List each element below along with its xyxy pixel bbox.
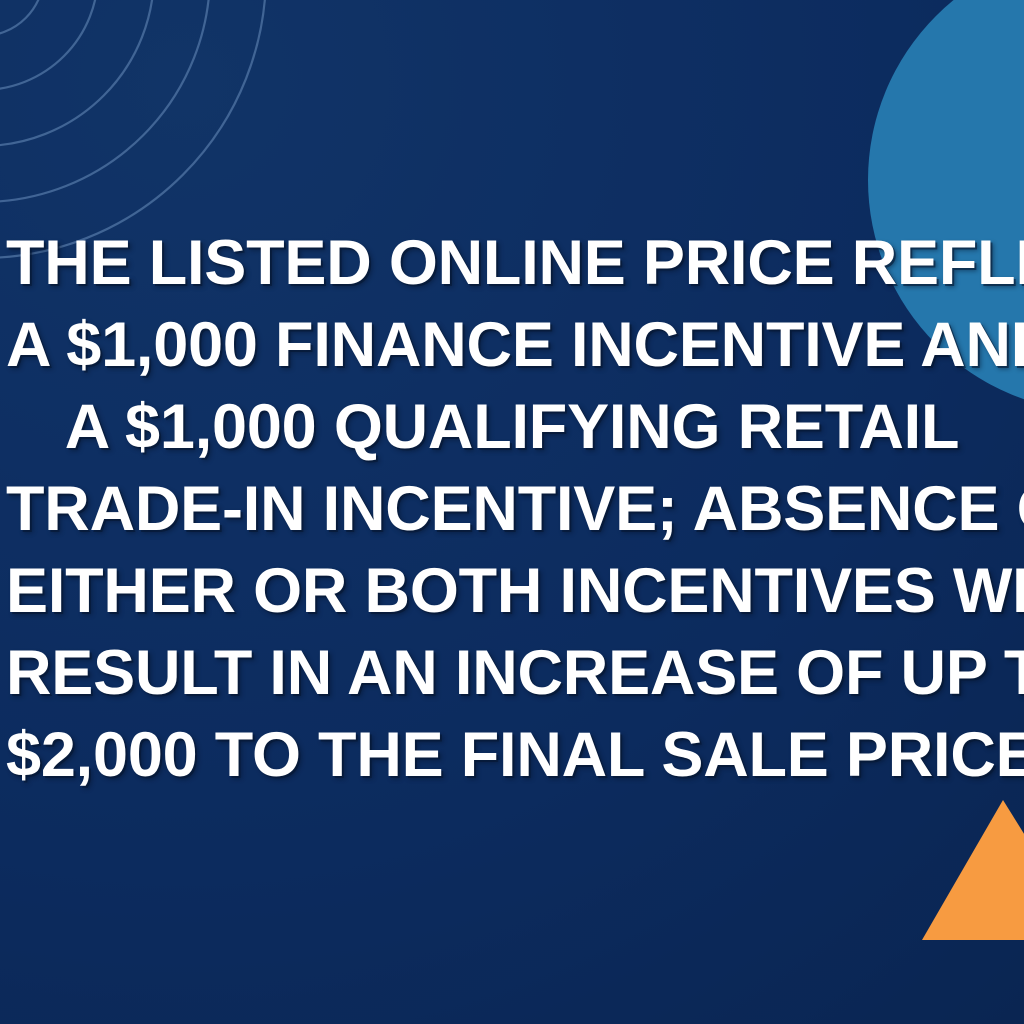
disclaimer-line-6: RESULT IN AN INCREASE OF UP TO (6, 632, 1018, 714)
disclaimer-line-3: A $1,000 QUALIFYING RETAIL (6, 386, 1018, 468)
disclaimer-line-4: TRADE-IN INCENTIVE; ABSENCE OF (6, 468, 1018, 550)
promo-card: THE LISTED ONLINE PRICE REFLECTS A $1,00… (0, 0, 1024, 1024)
disclaimer-line-5: EITHER OR BOTH INCENTIVES WILL (6, 550, 1018, 632)
disclaimer-line-1: THE LISTED ONLINE PRICE REFLECTS (6, 222, 1018, 304)
disclaimer-text: THE LISTED ONLINE PRICE REFLECTS A $1,00… (0, 222, 1024, 796)
disclaimer-line-2: A $1,000 FINANCE INCENTIVE AND (6, 304, 1018, 386)
orange-triangle-decoration (900, 798, 1024, 940)
disclaimer-line-7: $2,000 TO THE FINAL SALE PRICE. (6, 714, 1018, 796)
